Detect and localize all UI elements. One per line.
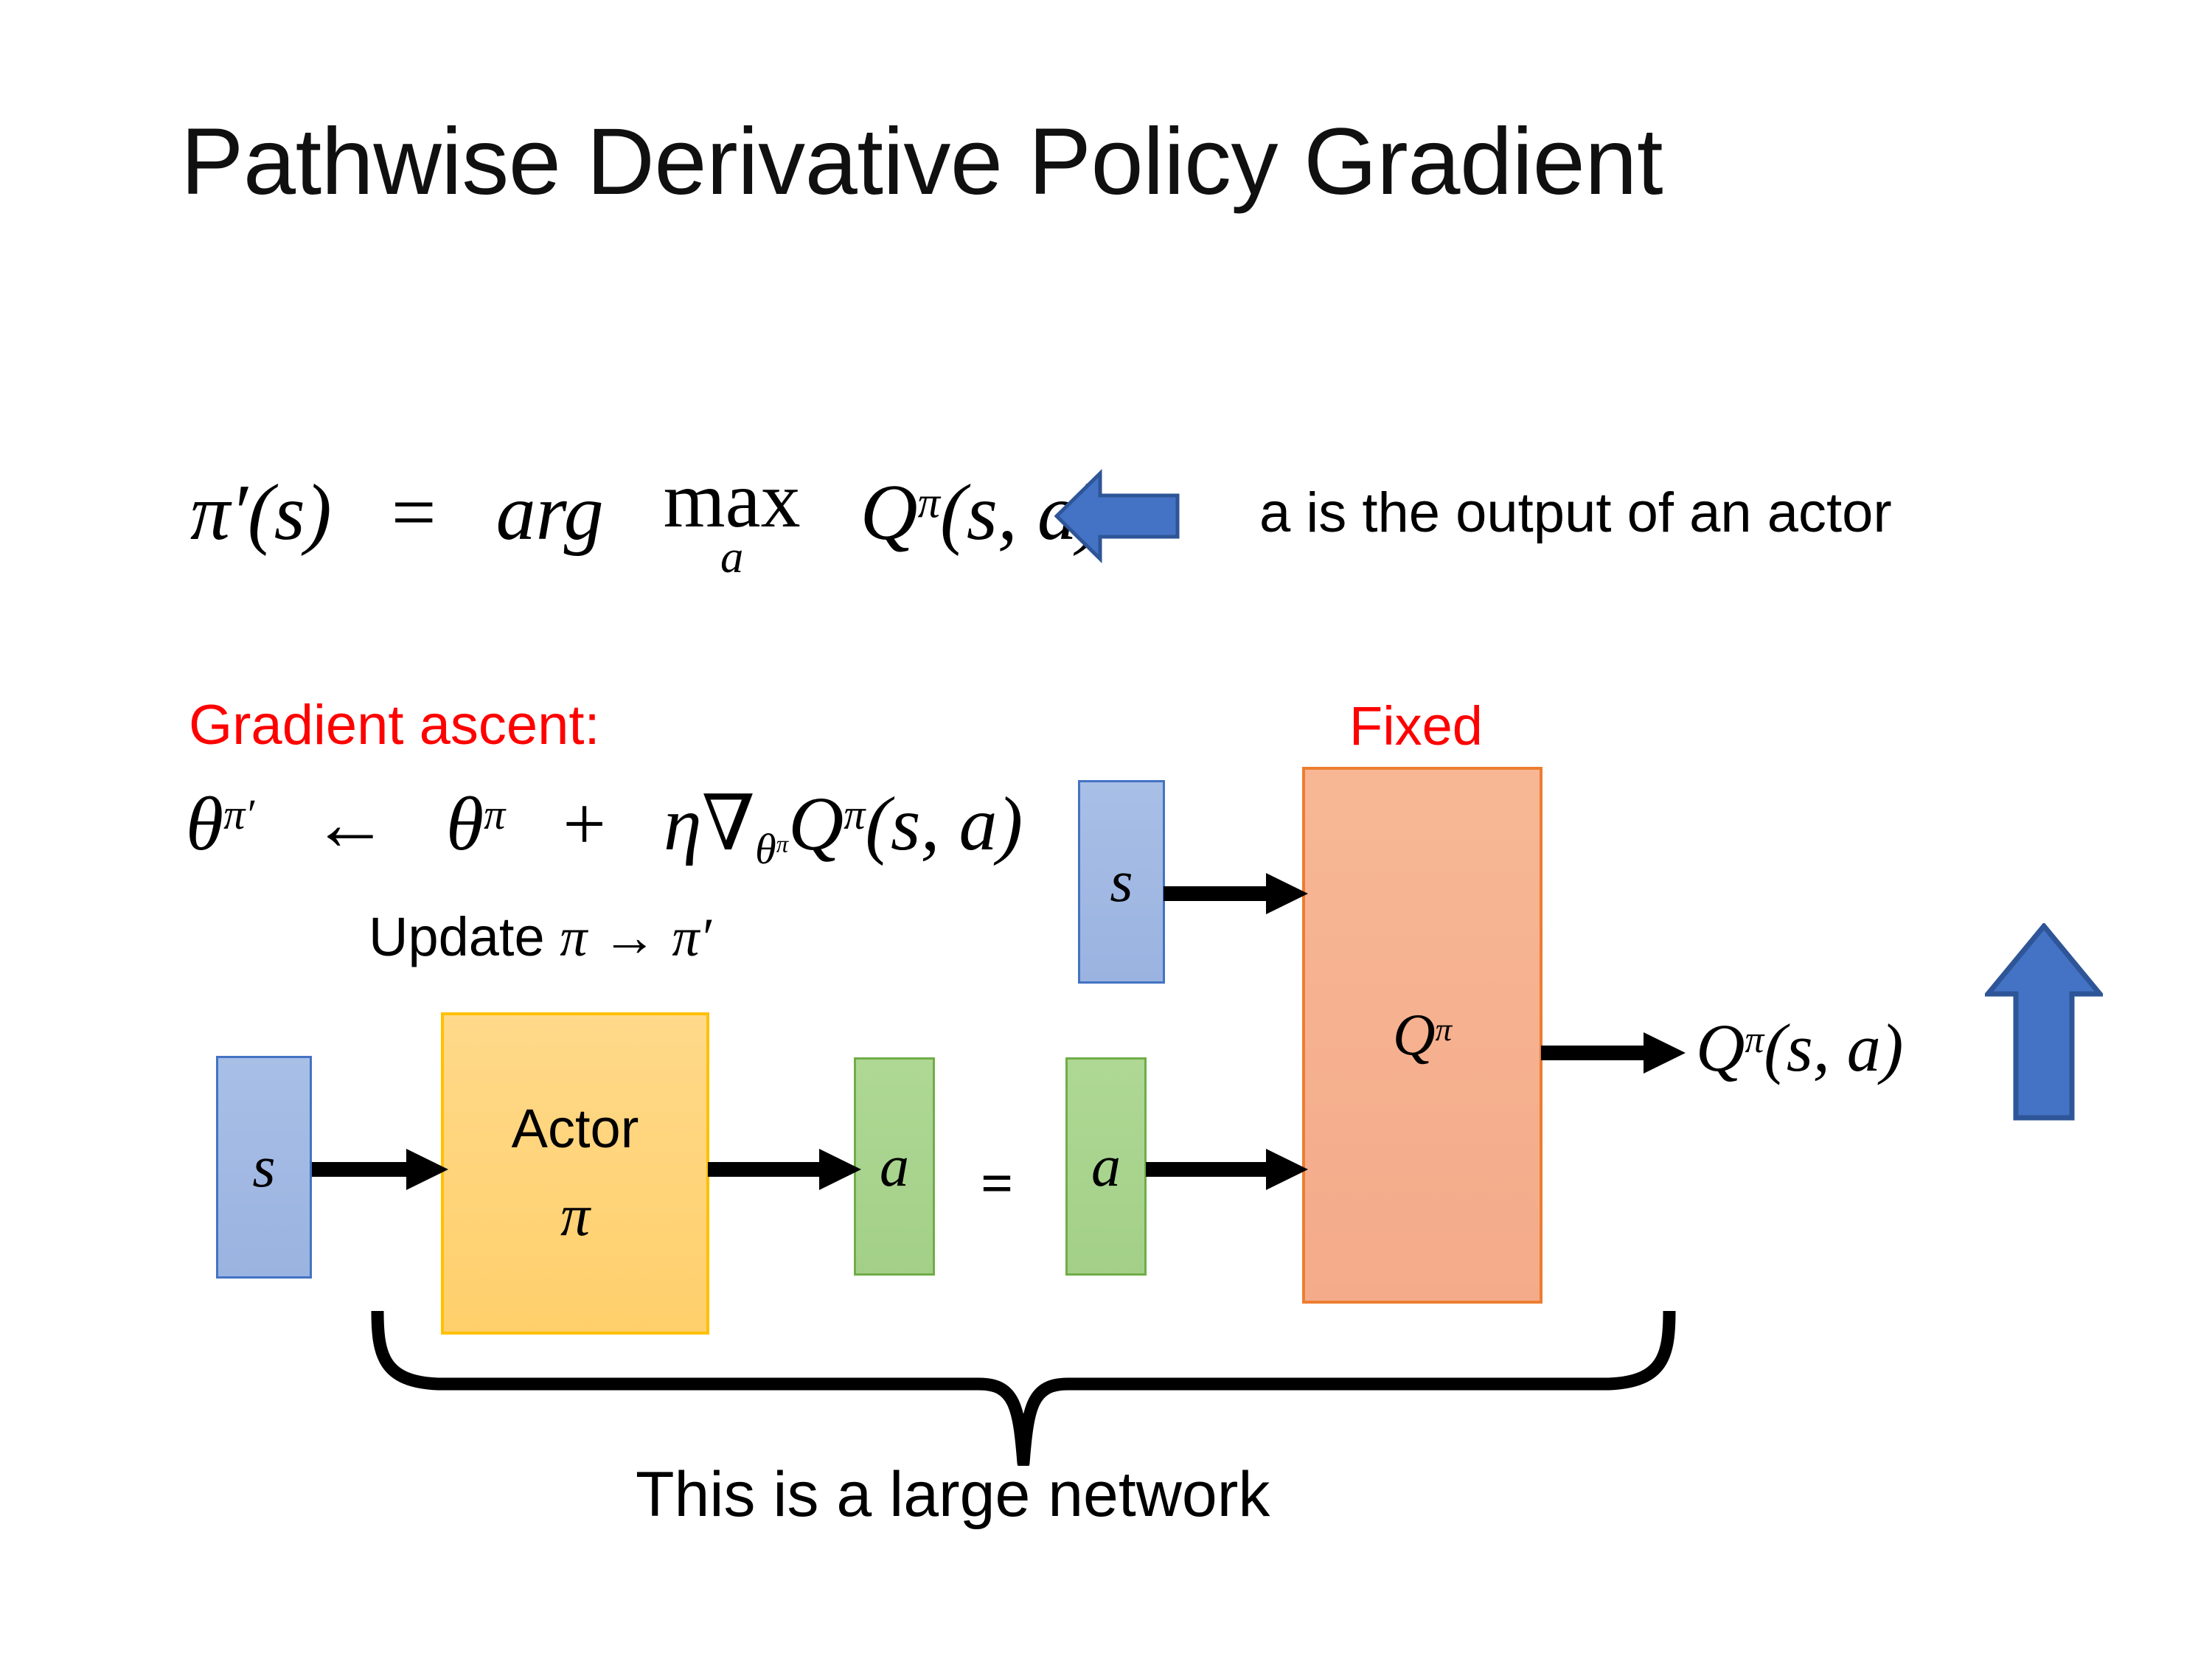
eq2-nabla-sub-theta: θ [755,825,776,873]
eq2-theta-superscript: π [484,790,505,838]
arrow-state-to-actor-icon [312,1147,448,1192]
update-policy-label: Update π → π′ [369,905,712,970]
action-output-label: a [880,1137,909,1196]
eq1-lhs: π′(s) [190,469,332,557]
network-scope-brace-icon [367,1311,1680,1466]
q-out-args: (s, a) [1764,1010,1903,1085]
eq2-plus: + [563,782,606,866]
eq1-q: Q [860,469,918,557]
eq1-equals: = [392,469,437,557]
fixed-label: Fixed [1349,695,1483,757]
eq1-arg: arg [496,469,604,557]
update-pi-prime: π′ [672,908,711,968]
eq2-theta-prime: θ [186,782,223,866]
q-network-letter: Q [1393,1003,1436,1068]
network-scope-caption: This is a large network [636,1458,1270,1531]
eq1-max-subscript: a [720,535,743,579]
q-value-output-label: Qπ(s, a) [1696,1009,1903,1087]
action-output-box[interactable]: a [854,1057,935,1276]
q-network-label: Qπ [1393,1006,1452,1065]
q-network-box[interactable]: Qπ [1302,767,1543,1304]
slide-canvas: Pathwise Derivative Policy Gradient π′(s… [0,0,2212,1659]
eq2-nabla-sub-superscript: π [776,831,788,858]
eq1-max: max [664,463,801,538]
eq2-q-args: (s, a) [865,782,1023,866]
eq1-q-superscript: π [918,479,940,528]
arrow-state-to-q-icon [1164,872,1308,916]
state-critic-input-box[interactable]: s [1078,780,1165,984]
q-out-superscript: π [1745,1019,1764,1061]
blue-left-arrow-icon [1054,469,1180,563]
equation-policy-improvement: π′(s) = arg max a Qπ(s, a) [190,463,1104,578]
equals-sign: = [981,1150,1013,1217]
gradient-ascent-label: Gradient ascent: [189,693,600,757]
actor-label: Actor [512,1099,639,1158]
state-input-box[interactable]: s [216,1056,312,1279]
eq2-assign-arrow: ← [312,782,389,866]
state-input-label: s [252,1138,275,1197]
arrow-actor-to-action-icon [708,1147,861,1192]
blue-up-arrow-icon [1985,923,2103,1121]
actor-output-note: a is the output of an actor [1259,481,1892,545]
eq1-argmax-operator: max a [664,463,801,578]
eq2-nabla: ∇ [702,782,756,866]
actor-pi-label: π [560,1183,590,1248]
q-out-letter: Q [1696,1010,1745,1085]
update-prefix: Update [369,906,560,967]
eq2-nabla-subscript: θπ [755,825,788,873]
equation-gradient-ascent: θπ′ ← θπ + η∇θπQπ(s, a) [186,778,1023,874]
arrow-q-to-output-icon [1541,1031,1686,1075]
q-network-superscript: π [1436,1011,1452,1048]
update-pi: π [560,908,587,968]
update-arrow: → [587,906,672,967]
page-title: Pathwise Derivative Policy Gradient [181,102,1729,223]
arrow-action-to-q-icon [1146,1147,1308,1192]
action-input-label: a [1091,1137,1121,1196]
eq2-theta: θ [446,782,484,866]
state-critic-label: s [1110,852,1133,911]
eq2-q-superscript: π [844,790,865,838]
eq2-eta: η [664,782,702,866]
eq2-q: Q [788,782,844,866]
action-input-box[interactable]: a [1065,1057,1147,1276]
eq2-theta-prime-superscript: π′ [223,790,254,838]
actor-network-box[interactable]: Actor π [441,1012,709,1335]
